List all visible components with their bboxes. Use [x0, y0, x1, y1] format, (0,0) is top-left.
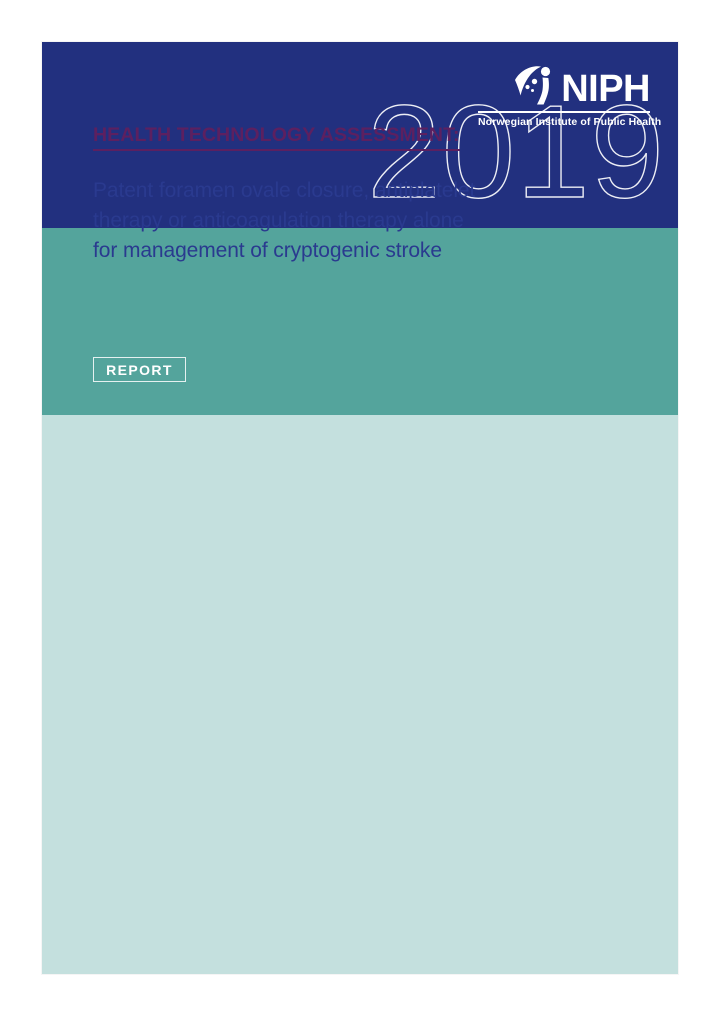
report-type-badge: REPORT	[93, 357, 186, 382]
report-title-line-2: therapy or anticoagulation therapy alone	[93, 206, 593, 236]
report-cover-page: NIPH Norwegian Institute of Public Healt…	[42, 42, 678, 974]
report-title-line-1: Patent foramen ovale closure, antiplatel…	[93, 176, 593, 206]
report-type-badge-label: REPORT	[106, 362, 173, 378]
report-kicker-wrapper: HEALTH TECHNOLOGY ASSESSMENT:	[93, 124, 593, 151]
report-kicker: HEALTH TECHNOLOGY ASSESSMENT:	[93, 124, 460, 151]
report-title: Patent foramen ovale closure, antiplatel…	[93, 176, 593, 266]
title-block: HEALTH TECHNOLOGY ASSESSMENT: Patent for…	[93, 124, 593, 266]
mint-body-band	[42, 415, 678, 974]
report-title-line-3: for management of cryptogenic stroke	[93, 236, 593, 266]
